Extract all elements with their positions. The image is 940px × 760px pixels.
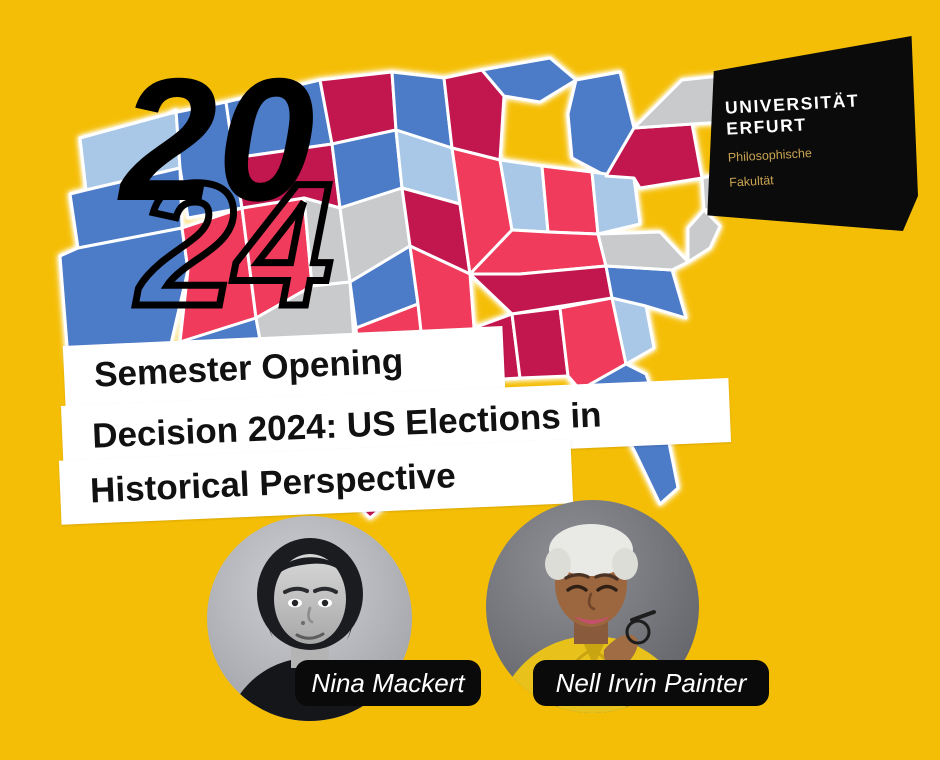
title-line-1-text: Semester Opening <box>63 342 404 397</box>
speaker-name-pill-2: Nell Irvin Painter <box>533 660 769 706</box>
speaker-name-pill-1: Nina Mackert <box>295 660 481 706</box>
university-erfurt-logo: UNIVERSITÄT ERFURT Philosophische Fakult… <box>703 36 918 231</box>
speaker-name-1: Nina Mackert <box>311 668 464 699</box>
logo-faculty-line-1: Philosophische <box>727 142 862 166</box>
title-line-3-text: Historical Perspective <box>59 456 456 513</box>
speaker-name-2: Nell Irvin Painter <box>556 668 747 699</box>
logo-text-block: UNIVERSITÄT ERFURT Philosophische Fakult… <box>725 90 864 191</box>
poster-canvas: 20 24 UNIVERSITÄT ERFURT Philosophische … <box>0 0 940 760</box>
poster-title: Semester Opening Decision 2024: US Elect… <box>0 330 940 540</box>
